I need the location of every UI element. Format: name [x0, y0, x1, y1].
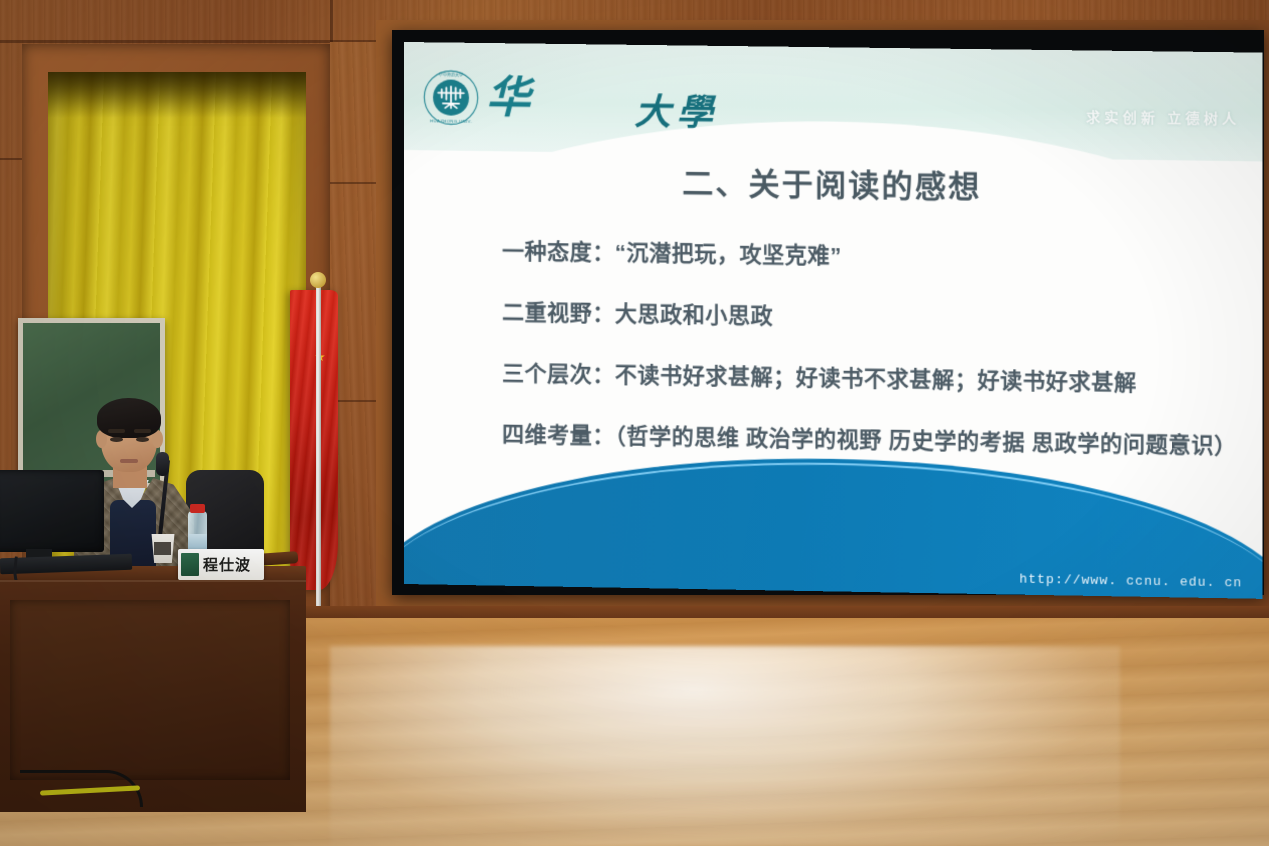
microphone-head: [156, 452, 169, 476]
flag-pole: [316, 281, 321, 621]
slide-body-line: 三个层次：不读书好求甚解；好读书不求甚解；好读书好求甚解: [502, 355, 1222, 398]
logo-wordmark-hua: 华: [486, 76, 530, 121]
slide-body-line: 四维考量：（哲学的思维 政治学的视野 历史学的考据 思政学的问题意识）: [502, 417, 1222, 461]
wall-seam: [330, 182, 382, 184]
university-crest-icon: 华中师范大学 HUAZHONG UNIV.: [422, 68, 480, 127]
presenter-hair: [97, 398, 161, 438]
slide-motto: 求实创新 立德树人: [1086, 107, 1240, 129]
presenter-nameplate: 程仕波: [178, 549, 264, 580]
lecture-hall-photo: 求实创新 立德树人 华中师范大学 HUAZHONG UNIV. 华 大學 二、关…: [0, 0, 1269, 846]
presenter-eyebrow-left: [108, 429, 125, 433]
slide-body: 一种态度：“沉潜把玩，攻坚克难” 二重视野：大思政和小思政 三个层次：不读书好求…: [502, 233, 1222, 489]
floor-light-reflection: [330, 646, 1120, 846]
presenter-eyebrow-right: [134, 429, 151, 433]
slide-body-line: 二重视野：大思政和小思政: [502, 294, 1222, 337]
computer-monitor: [0, 470, 104, 552]
paper-cup-band: [154, 542, 171, 555]
presentation-slide: 求实创新 立德树人 华中师范大学 HUAZHONG UNIV. 华 大學 二、关…: [404, 42, 1263, 599]
presenter-mouth: [120, 459, 138, 463]
flag-finial: [310, 272, 326, 288]
presenter-eye-right: [136, 437, 149, 442]
logo-wordmark-daxue: 大學: [634, 83, 718, 136]
chinese-flag: [290, 290, 338, 590]
university-logo: 华中师范大学 HUAZHONG UNIV. 华: [422, 68, 530, 127]
nameplate-crest-icon: [181, 553, 199, 576]
svg-text:华中师范大学: 华中师范大学: [439, 71, 463, 77]
wall-seam: [0, 40, 380, 43]
desk-front-inset: [10, 600, 290, 780]
svg-text:HUAZHONG UNIV.: HUAZHONG UNIV.: [430, 118, 472, 124]
nameplate-name-text: 程仕波: [203, 554, 251, 575]
water-bottle-cap: [190, 504, 205, 513]
curtain-top-shadow: [48, 72, 306, 118]
presenter-eye-left: [110, 437, 123, 442]
